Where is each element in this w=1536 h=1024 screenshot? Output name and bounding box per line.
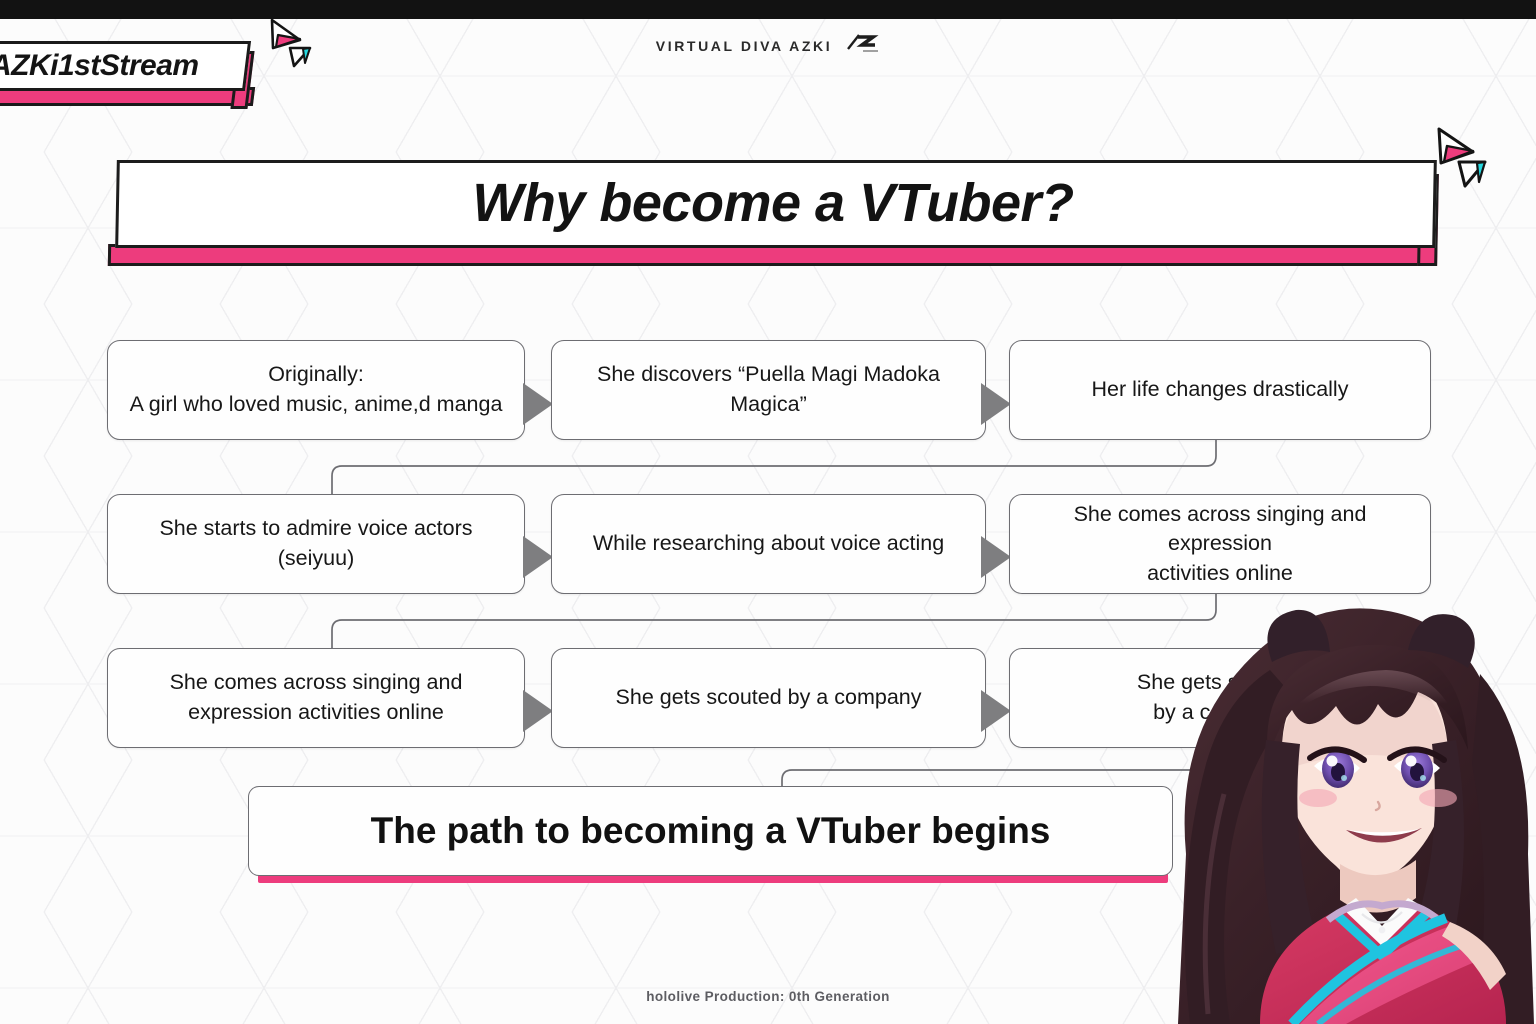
flow-final-box[interactable]: The path to becoming a VTuber begins (248, 786, 1173, 884)
flow-box[interactable]: Originally: A girl who loved music, anim… (107, 340, 525, 440)
flow-box-line: Originally: (122, 360, 510, 390)
double-triangle-icon (260, 18, 316, 78)
header-wordmark: VIRTUAL DIVA AZKI (0, 32, 1536, 59)
final-box-label: The path to becoming a VTuber begins (248, 786, 1173, 876)
right-triangle-arrow-icon (981, 536, 1011, 578)
flow-box-line: She gets scouted (1024, 668, 1416, 698)
flow-box-line: While researching about voice acting (566, 529, 971, 559)
flow-box-line: She discovers “Puella Magi Madoka (566, 360, 971, 390)
flow-box[interactable]: She comes across singing and expression … (107, 648, 525, 748)
slide-title-banner: Why become a VTuber? (108, 160, 1438, 270)
flow-box-line: by a company (1024, 698, 1416, 728)
flow-box[interactable]: While researching about voice acting (551, 494, 986, 594)
flow-connector (320, 438, 1230, 496)
flow-box-line: Magica” (566, 390, 971, 420)
flow-box-line: activities online (1024, 559, 1416, 589)
flow-connector (320, 592, 1230, 650)
flow-box[interactable]: She comes across singing and expression … (1009, 494, 1431, 594)
flow-box-line: She comes across singing and (122, 668, 510, 698)
footer-caption: hololive Production: 0th Generation (0, 989, 1536, 1004)
flow-box[interactable]: She gets scouted by a company (551, 648, 986, 748)
right-triangle-arrow-icon (523, 690, 553, 732)
flow-box-line: Her life changes drastically (1024, 375, 1416, 405)
flow-box-line: She gets scouted by a company (566, 683, 971, 713)
azki-z-logo-icon (846, 32, 880, 59)
page-title: Why become a VTuber? (108, 172, 1438, 234)
flow-box-line: A girl who loved music, anime,d manga (122, 390, 510, 420)
flow-box-line: expression activities online (122, 698, 510, 728)
flow-box[interactable]: She starts to admire voice actors (seiyu… (107, 494, 525, 594)
right-triangle-arrow-icon (981, 690, 1011, 732)
flow-box[interactable]: She gets scouted by a company (1009, 648, 1431, 748)
right-triangle-arrow-icon (981, 383, 1011, 425)
right-triangle-arrow-icon (523, 383, 553, 425)
top-letterbox-bar (0, 0, 1536, 19)
wordmark-text: VIRTUAL DIVA AZKI (656, 38, 832, 54)
flow-box-line: She comes across singing and expression (1024, 500, 1416, 559)
flow-box-line: (seiyuu) (122, 544, 510, 574)
flow-box[interactable]: Her life changes drastically (1009, 340, 1431, 440)
flow-box[interactable]: She discovers “Puella Magi Madoka Magica… (551, 340, 986, 440)
flow-box-line: She starts to admire voice actors (122, 514, 510, 544)
double-triangle-icon (1425, 126, 1495, 202)
right-triangle-arrow-icon (523, 536, 553, 578)
